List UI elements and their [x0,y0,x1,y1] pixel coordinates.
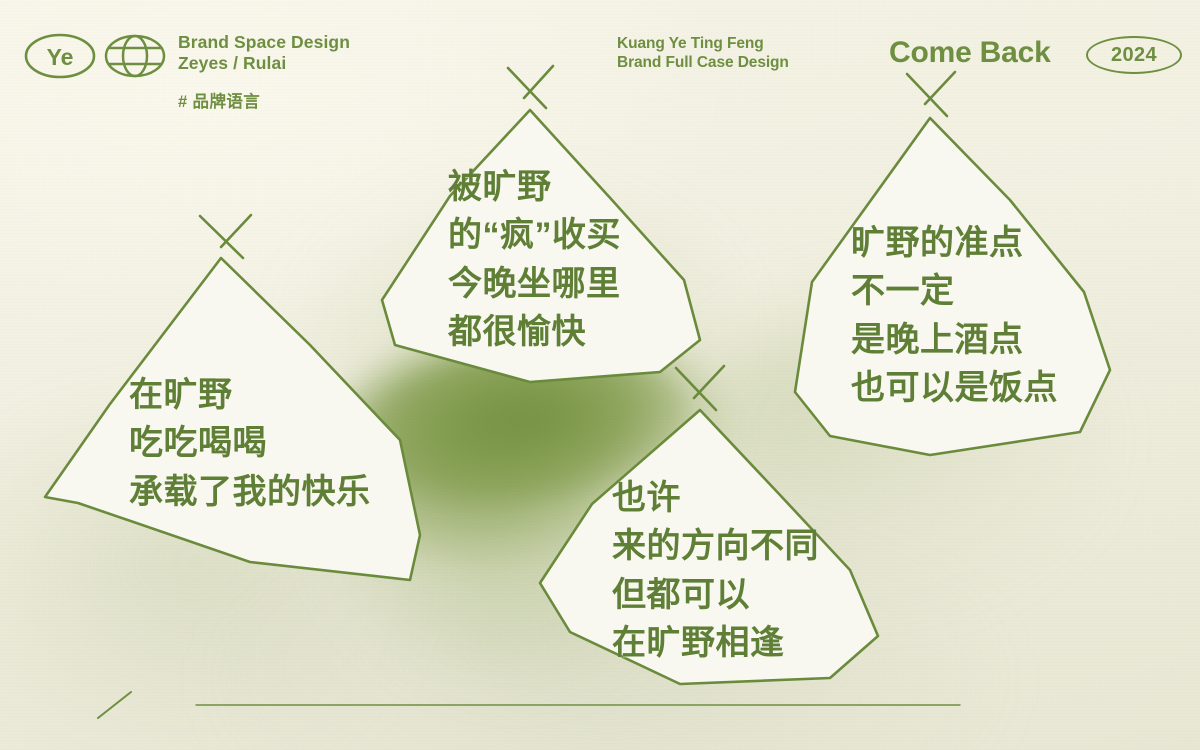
footer-rules-layer [0,0,1200,750]
footer-slash [98,692,131,718]
poster-canvas: Ye Brand Space Design Zeyes / Rulai # 品牌… [0,0,1200,750]
